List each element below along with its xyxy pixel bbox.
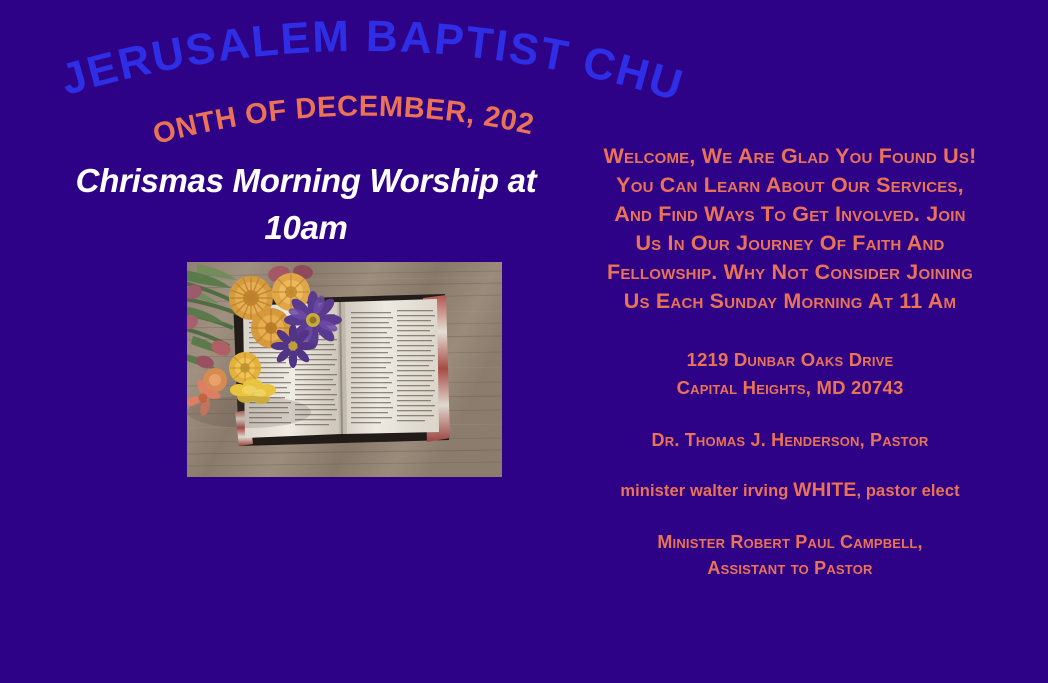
pastor-elect-prefix: minister walter irving [620, 482, 793, 500]
address-line-1: 1219 Dunbar Oaks Drive [600, 346, 980, 373]
pastor-elect-suffix: , pastor elect [857, 482, 960, 500]
pastor-elect-surname: WHITE [793, 479, 856, 501]
assistant-name: Minister Robert Paul Campbell, [600, 529, 980, 555]
church-name-arch: NEW JERUSALEM BAPTIST CHURCH [22, 12, 702, 122]
service-headline: Chrismas Morning Worship at 10am [36, 158, 576, 252]
church-name-text: NEW JERUSALEM BAPTIST CHURCH [0, 0, 689, 111]
address-line-2: Capital Heights, MD 20743 [600, 374, 980, 401]
pastor-name: Dr. Thomas J. Henderson, Pastor [600, 430, 980, 451]
address-block: 1219 Dunbar Oaks Drive Capital Heights, … [600, 346, 980, 400]
bible-with-flowers-photo [187, 262, 502, 477]
right-column: Welcome, We Are Glad You Found Us! You C… [600, 142, 980, 581]
welcome-paragraph: Welcome, We Are Glad You Found Us! You C… [600, 142, 980, 315]
assistant-block: Minister Robert Paul Campbell, Assistant… [600, 529, 980, 581]
bible-photo-frame [187, 262, 502, 477]
month-line-arch: MONTH OF DECEMBER, 2025 [140, 95, 540, 155]
left-column: Chrismas Morning Worship at 10am [36, 158, 576, 252]
month-line-text: MONTH OF DECEMBER, 2025 [128, 70, 537, 151]
assistant-title: Assistant to Pastor [600, 555, 980, 581]
church-flyer: NEW JERUSALEM BAPTIST CHURCH MONTH OF DE… [0, 0, 1048, 683]
pastor-elect-line: minister walter irving WHITE, pastor ele… [600, 479, 980, 502]
